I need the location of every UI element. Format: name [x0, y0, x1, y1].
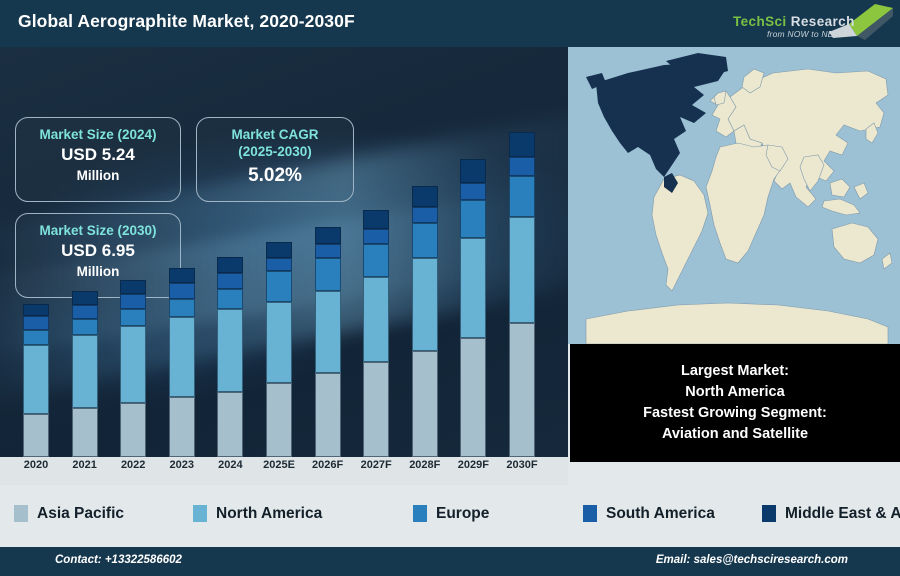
bar-2025E	[266, 242, 292, 457]
chart-legend: Asia PacificNorth AmericaEuropeSouth Ame…	[0, 485, 900, 542]
legend-swatch-icon	[14, 505, 28, 522]
fastest-segment-label: Fastest Growing Segment:	[643, 403, 827, 424]
bar-segment-south-america-2022	[120, 294, 146, 309]
bar-segment-middle-east-africa-2027F	[363, 210, 389, 229]
x-axis-label-2022: 2022	[110, 459, 156, 471]
bar-segment-south-america-2025E	[266, 258, 292, 272]
legend-swatch-icon	[583, 505, 597, 522]
footer-contact[interactable]: Contact: +13322586602	[55, 554, 182, 566]
bar-segment-middle-east-africa-2024	[217, 257, 243, 273]
legend-item-europe[interactable]: Europe	[413, 505, 489, 523]
bar-segment-south-america-2021	[72, 305, 98, 319]
header-bar: Global Aerographite Market, 2020-2030F T…	[0, 0, 900, 47]
bar-2030F	[509, 132, 535, 457]
bar-segment-europe-2029F	[460, 200, 486, 238]
bar-segment-asia-pacific-2020	[23, 414, 49, 457]
legend-item-south-america[interactable]: South America	[583, 505, 715, 523]
bar-segment-europe-2028F	[412, 223, 438, 258]
bar-segment-europe-2025E	[266, 271, 292, 302]
bar-segment-south-america-2028F	[412, 207, 438, 223]
bar-segment-south-america-2030F	[509, 157, 535, 175]
x-axis-label-2023: 2023	[159, 459, 205, 471]
legend-swatch-icon	[762, 505, 776, 522]
bar-segment-south-america-2027F	[363, 229, 389, 244]
bar-segment-europe-2022	[120, 309, 146, 326]
logo-wordmark: TechSci Research	[733, 14, 855, 29]
bar-segment-south-america-2029F	[460, 183, 486, 200]
bar-2028F	[412, 186, 438, 457]
bar-segment-north-america-2029F	[460, 238, 486, 338]
bar-segment-middle-east-africa-2029F	[460, 159, 486, 183]
bar-segment-asia-pacific-2027F	[363, 362, 389, 457]
world-map	[568, 47, 900, 344]
bar-2024	[217, 257, 243, 457]
bar-segment-europe-2026F	[315, 258, 341, 290]
bar-2023	[169, 268, 195, 457]
bar-segment-south-america-2026F	[315, 244, 341, 258]
bar-segment-asia-pacific-2030F	[509, 323, 535, 457]
bar-2029F	[460, 159, 486, 457]
x-axis-label-2020: 2020	[13, 459, 59, 471]
bar-segment-north-america-2020	[23, 345, 49, 414]
footer-bar: Contact: +13322586602 Email: sales@techs…	[0, 547, 900, 576]
legend-label: Asia Pacific	[37, 505, 124, 523]
stacked-bar-plot	[0, 47, 568, 457]
bar-segment-south-america-2023	[169, 283, 195, 299]
key-insights-box: Largest Market: North America Fastest Gr…	[570, 344, 900, 462]
page-title: Global Aerographite Market, 2020-2030F	[18, 11, 355, 32]
bar-segment-middle-east-africa-2026F	[315, 227, 341, 244]
world-map-svg	[568, 47, 900, 344]
x-axis-labels: 202020212022202320242025E2026F2027F2028F…	[0, 457, 568, 485]
x-axis-label-2024: 2024	[207, 459, 253, 471]
chart-panel: Market Size (2024) USD 5.24 Million Mark…	[0, 47, 568, 457]
bar-2026F	[315, 227, 341, 457]
bar-segment-north-america-2022	[120, 326, 146, 402]
x-axis-label-2021: 2021	[62, 459, 108, 471]
logo-brand-tech: TechSci	[733, 14, 787, 29]
bar-segment-middle-east-africa-2030F	[509, 132, 535, 157]
bar-segment-middle-east-africa-2022	[120, 280, 146, 294]
bar-segment-europe-2024	[217, 289, 243, 308]
legend-label: Europe	[436, 505, 489, 523]
x-axis-label-2028F: 2028F	[402, 459, 448, 471]
bar-segment-asia-pacific-2024	[217, 392, 243, 457]
legend-swatch-icon	[193, 505, 207, 522]
bar-2027F	[363, 210, 389, 457]
bar-segment-asia-pacific-2029F	[460, 338, 486, 457]
bar-2021	[72, 291, 98, 457]
bar-segment-asia-pacific-2023	[169, 397, 195, 457]
bar-segment-europe-2027F	[363, 244, 389, 277]
bar-segment-middle-east-africa-2020	[23, 304, 49, 317]
bar-segment-north-america-2027F	[363, 277, 389, 362]
legend-item-middle-east-africa[interactable]: Middle East & Africa	[762, 505, 900, 523]
logo-brand-research: Research	[791, 14, 855, 29]
bar-segment-north-america-2025E	[266, 302, 292, 383]
bar-segment-europe-2020	[23, 330, 49, 345]
bar-segment-europe-2021	[72, 319, 98, 335]
bar-segment-europe-2030F	[509, 176, 535, 217]
bar-segment-middle-east-africa-2021	[72, 291, 98, 304]
techsci-research-logo[interactable]: TechSci Research from NOW to NEXT	[725, 2, 895, 44]
bar-segment-asia-pacific-2022	[120, 403, 146, 457]
bar-segment-middle-east-africa-2023	[169, 268, 195, 283]
x-axis-label-2029F: 2029F	[450, 459, 496, 471]
logo-tagline: from NOW to NEXT	[767, 29, 845, 39]
footer-email[interactable]: Email: sales@techsciresearch.com	[656, 554, 848, 566]
x-axis-label-2025E: 2025E	[256, 459, 302, 471]
bar-segment-asia-pacific-2021	[72, 408, 98, 457]
x-axis-label-2027F: 2027F	[353, 459, 399, 471]
bar-segment-north-america-2024	[217, 309, 243, 393]
largest-market-value: North America	[685, 382, 784, 403]
legend-label: South America	[606, 505, 715, 523]
bar-segment-north-america-2028F	[412, 258, 438, 350]
bar-segment-middle-east-africa-2025E	[266, 242, 292, 258]
bar-2022	[120, 280, 146, 457]
legend-label: Middle East & Africa	[785, 505, 900, 523]
x-axis-label-2030F: 2030F	[499, 459, 545, 471]
legend-item-north-america[interactable]: North America	[193, 505, 322, 523]
legend-label: North America	[216, 505, 322, 523]
bar-segment-asia-pacific-2028F	[412, 351, 438, 457]
legend-swatch-icon	[413, 505, 427, 522]
bar-segment-europe-2023	[169, 299, 195, 317]
bar-segment-north-america-2030F	[509, 217, 535, 323]
bar-segment-north-america-2021	[72, 335, 98, 408]
largest-market-label: Largest Market:	[681, 361, 789, 382]
bar-segment-north-america-2023	[169, 317, 195, 397]
bar-2020	[23, 304, 49, 457]
legend-item-asia-pacific[interactable]: Asia Pacific	[14, 505, 124, 523]
bar-segment-south-america-2020	[23, 316, 49, 329]
fastest-segment-value: Aviation and Satellite	[662, 424, 808, 445]
bar-segment-asia-pacific-2025E	[266, 383, 292, 457]
infographic-root: Global Aerographite Market, 2020-2030F T…	[0, 0, 900, 576]
bar-segment-middle-east-africa-2028F	[412, 186, 438, 207]
bar-segment-south-america-2024	[217, 273, 243, 290]
bar-segment-north-america-2026F	[315, 291, 341, 373]
x-axis-label-2026F: 2026F	[305, 459, 351, 471]
bar-segment-asia-pacific-2026F	[315, 373, 341, 457]
